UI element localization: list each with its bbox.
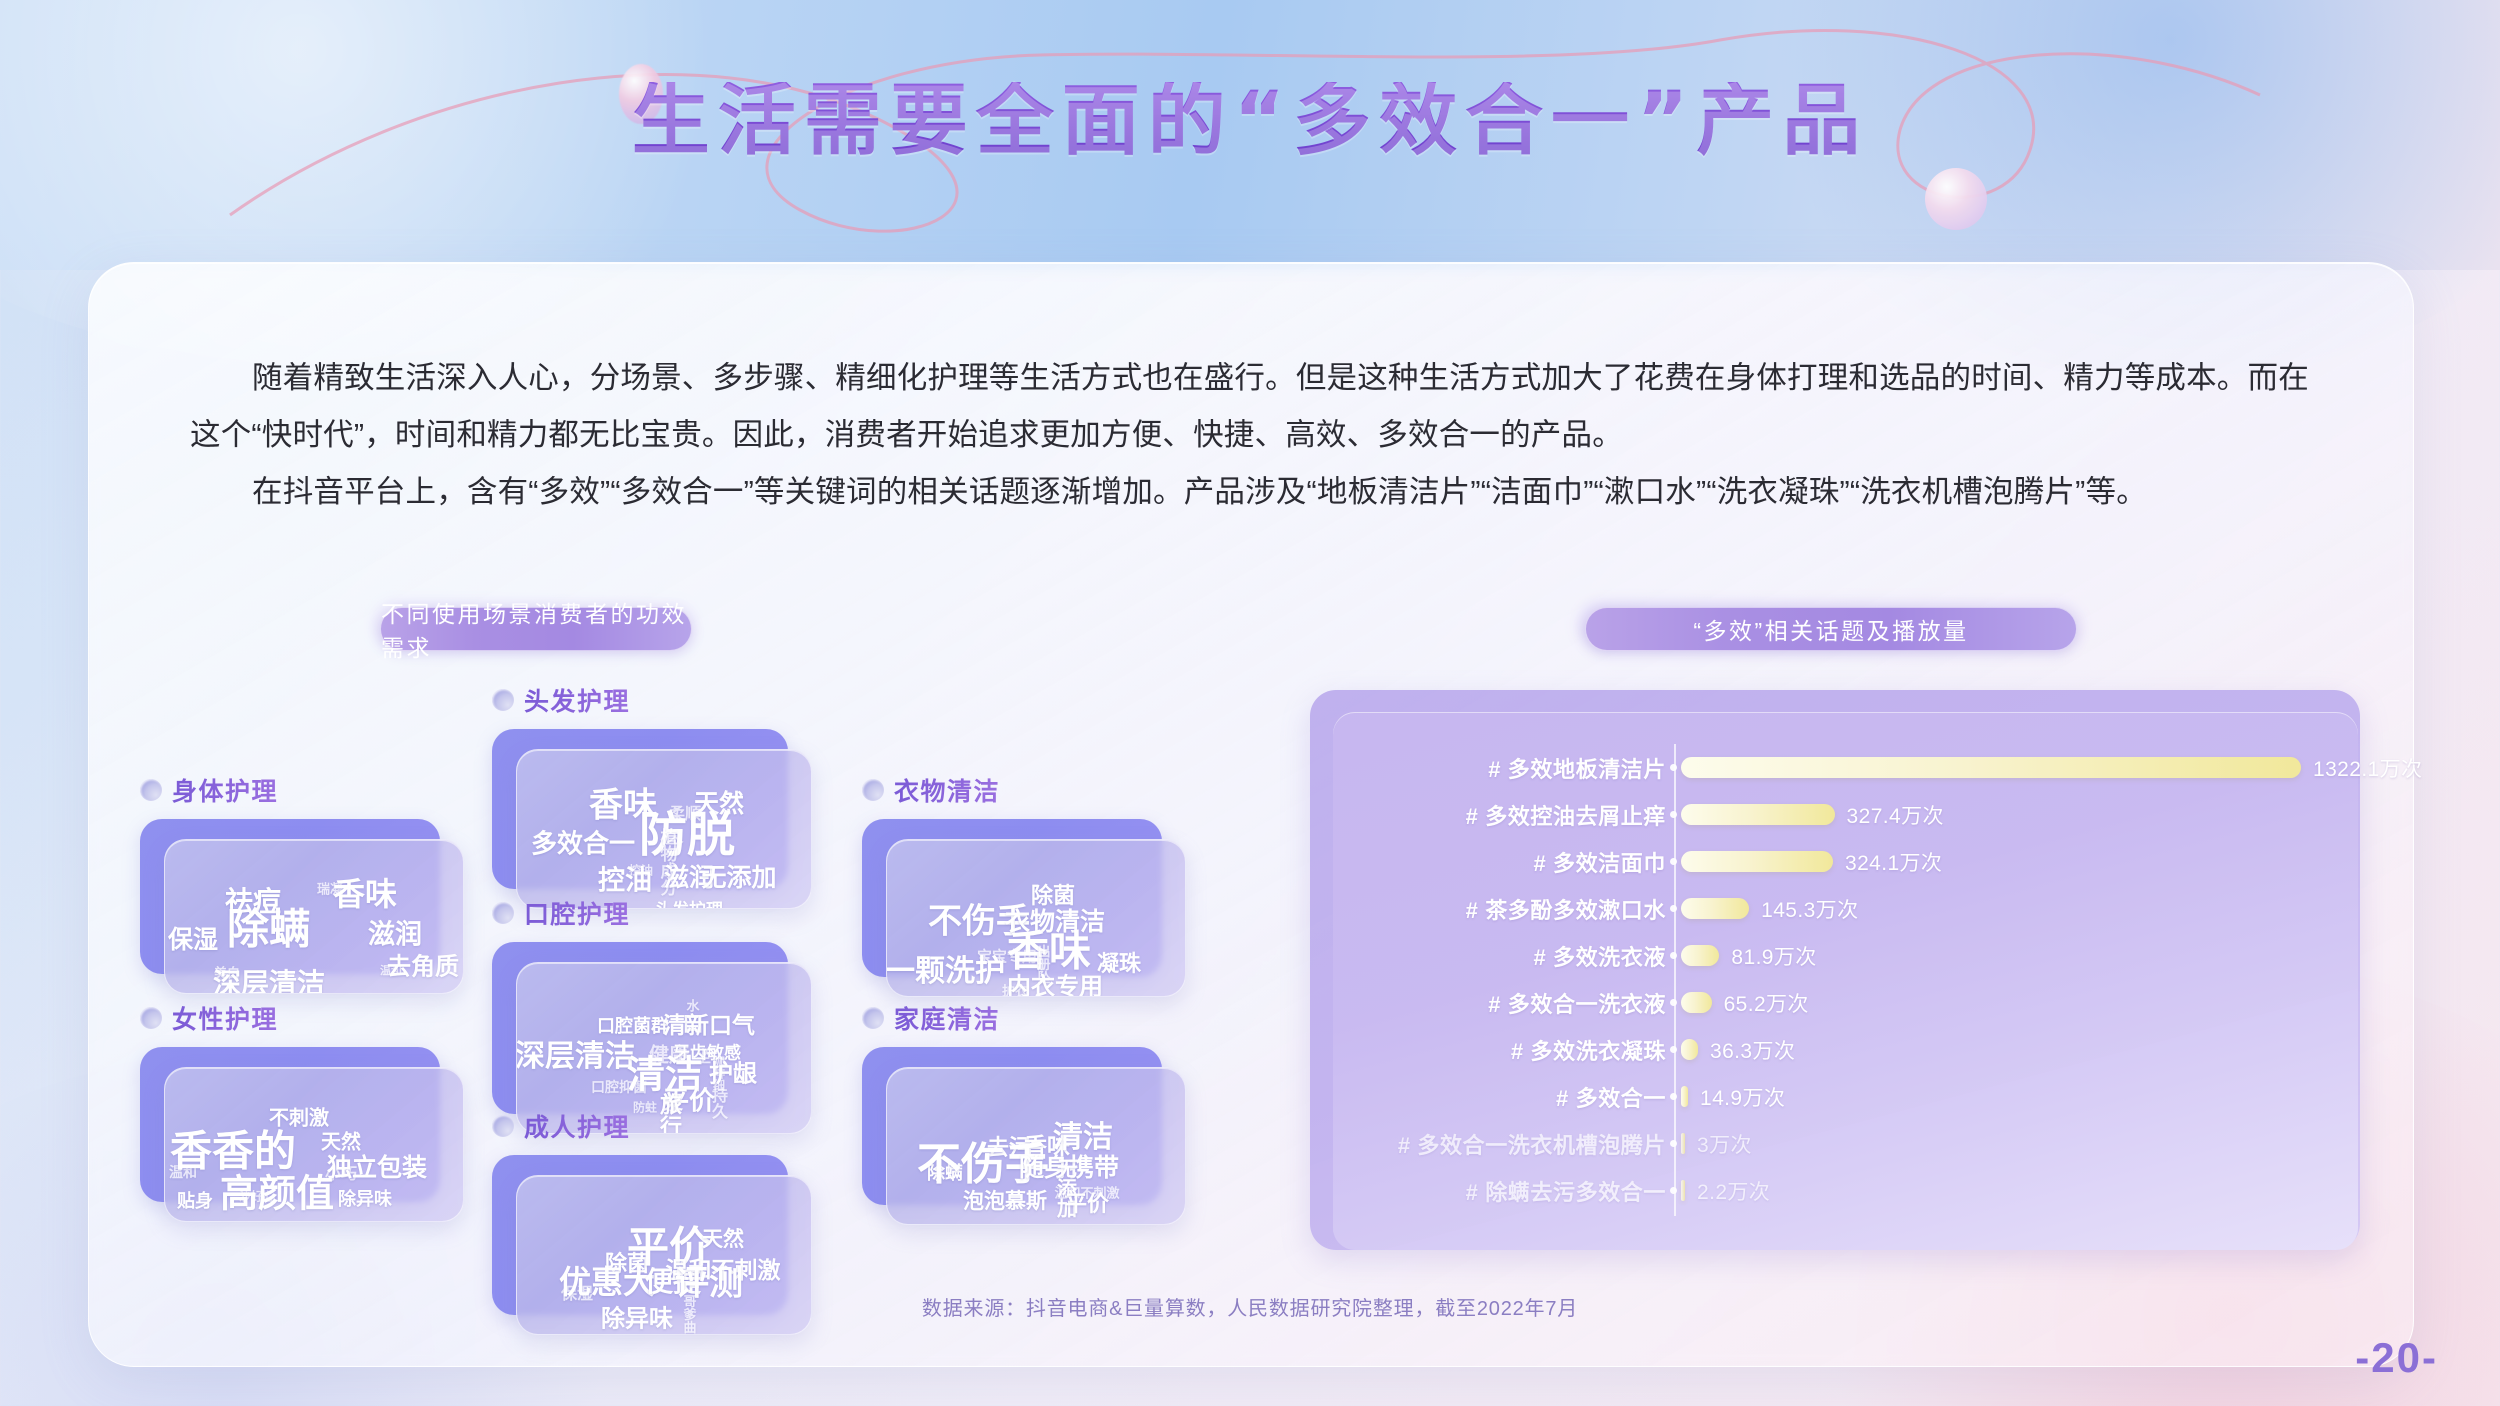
intro-paragraph-1: 随着精致生活深入人心，分场景、多步骤、精细化护理等生活方式也在盛行。但是这种生活… (190, 350, 2330, 464)
word-cloud-group: 身体护理祛痘瑞凝香味保湿除螨滋润美白温和去角质深层清洁 (140, 772, 470, 1000)
word-cloud-term: 内衣专用 (1007, 967, 1103, 998)
chart-bar-row: # 多效控油去屑止痒327.4万次 (1333, 791, 2358, 838)
group-title: 口腔护理 (524, 895, 630, 931)
bullet-circle-icon (140, 779, 162, 801)
chart-axis-tick-dot (1670, 811, 1677, 818)
bullet-circle-icon (862, 1007, 884, 1029)
word-cloud-term: 高颜值 (220, 1163, 334, 1218)
data-source-note: 数据来源：抖音电商&巨量算数，人民数据研究院整理，截至2022年7月 (0, 1292, 2500, 1321)
word-cloud-group: 女性护理不刺激温和香香的天然小巧独立包装贴身沙好心高颜值除异味 (140, 1000, 470, 1228)
group-header: 女性护理 (140, 1000, 470, 1036)
group-header: 成人护理 (492, 1108, 818, 1144)
bullet-circle-icon (492, 902, 514, 924)
chart-axis-tick-dot (1670, 764, 1677, 771)
chart-bar (1681, 1086, 1688, 1107)
word-cloud-term: 深层清洁 (516, 1031, 635, 1075)
chart-axis-tick-dot (1670, 952, 1677, 959)
card-front-layer: 去污香味清洁除螨不伤手随身携带温和不刺激泡泡慕斯无添加平价 (886, 1067, 1186, 1225)
chart-value-label: 145.3万次 (1761, 894, 1858, 924)
chart-bar-row: # 多效合一14.9万次 (1333, 1073, 2358, 1120)
chart-category-label: # 茶多酚多效漱口水 (1236, 893, 1666, 925)
intro-paragraph-2: 在抖音平台上，含有“多效”“多效合一”等关键词的相关话题逐渐增加。产品涉及“地板… (190, 464, 2330, 521)
chart-category-label: # 多效洗衣液 (1236, 940, 1666, 972)
word-cloud-term: 护龈 (709, 1054, 757, 1089)
chart-axis-tick-dot (1670, 1140, 1677, 1147)
chart-bar-row: # 多效洗衣液81.9万次 (1333, 932, 2358, 979)
word-cloud-card: 去污香味清洁除螨不伤手随身携带温和不刺激泡泡慕斯无添加平价 (862, 1047, 1192, 1231)
chart-category-label: # 多效合一洗衣液 (1236, 987, 1666, 1019)
group-title: 身体护理 (172, 772, 278, 808)
chart-value-label: 65.2万次 (1724, 988, 1809, 1018)
word-cloud-term: 独立包装 (327, 1148, 427, 1184)
chart-value-label: 3万次 (1697, 1129, 1752, 1159)
group-header: 身体护理 (140, 772, 470, 808)
word-cloud-card: 不刺激温和香香的天然小巧独立包装贴身沙好心高颜值除异味 (140, 1047, 470, 1228)
card-front-layer: 香味柔顺天然多效合一个防脱控油控油植物成分滋润无添加头发护理 (516, 749, 812, 909)
chart-value-label: 324.1万次 (1845, 847, 1942, 877)
group-header: 头发护理 (492, 682, 818, 718)
word-cloud-term: 天然 (702, 1223, 744, 1253)
word-cloud-term: 控油 (598, 859, 652, 898)
page-number: -20- (2355, 1334, 2438, 1382)
chart-category-label: # 除螨去污多效合一 (1236, 1175, 1666, 1207)
word-cloud-term: 多效合一 (531, 824, 635, 861)
word-cloud-term: 去角质 (387, 947, 459, 982)
word-cloud-term: 香味 (333, 869, 397, 915)
group-header: 家庭清洁 (862, 1000, 1192, 1036)
chart-value-label: 2.2万次 (1697, 1176, 1770, 1206)
chart-bar-row: # 多效地板清洁片1322.1万次 (1333, 744, 2358, 791)
card-front-layer: 不刺激温和香香的天然小巧独立包装贴身沙好心高颜值除异味 (164, 1067, 464, 1222)
chart-bar-row: # 多效合一洗衣液65.2万次 (1333, 979, 2358, 1026)
chart-bar (1681, 1133, 1685, 1154)
word-cloud-term: 深层清洁 (213, 962, 325, 994)
chart-category-label: # 多效洗衣凝珠 (1236, 1034, 1666, 1066)
group-title: 家庭清洁 (894, 1000, 1000, 1036)
chart-bar-row: # 多效洗衣凝珠36.3万次 (1333, 1026, 2358, 1073)
chart-value-label: 14.9万次 (1700, 1082, 1785, 1112)
chart-bar-row: # 多效洁面巾324.1万次 (1333, 838, 2358, 885)
chart-bar-row: # 多效合一洗衣机槽泡腾片3万次 (1333, 1120, 2358, 1167)
chart-value-label: 36.3万次 (1710, 1035, 1795, 1065)
chart-value-label: 1322.1万次 (2313, 753, 2422, 783)
word-cloud-term: 除螨 (227, 896, 311, 957)
chart-bar-rows: # 多效地板清洁片1322.1万次# 多效控油去屑止痒327.4万次# 多效洁面… (1333, 744, 2358, 1214)
group-title: 头发护理 (524, 682, 630, 718)
chart-bar (1681, 1039, 1698, 1060)
group-header: 口腔护理 (492, 895, 818, 931)
chart-category-label: # 多效洁面巾 (1236, 846, 1666, 878)
word-cloud-term: 凝珠 (1097, 946, 1141, 978)
chart-category-label: # 多效地板清洁片 (1236, 752, 1666, 784)
chart-bar-row: # 除螨去污多效合一2.2万次 (1333, 1167, 2358, 1214)
group-header: 衣物清洁 (862, 772, 1192, 808)
word-cloud-card: 祛痘瑞凝香味保湿除螨滋润美白温和去角质深层清洁 (140, 819, 470, 1000)
chart-category-label: # 多效合一 (1236, 1081, 1666, 1113)
chart-axis-tick-dot (1670, 1187, 1677, 1194)
page-title: 生活需要全面的“多效合一”产品 (0, 82, 2500, 160)
word-cloud-term: 除异味 (338, 1185, 392, 1211)
word-cloud-term: 一颗洗护 (886, 946, 1005, 990)
group-title: 成人护理 (524, 1108, 630, 1144)
chart-axis-tick-dot (1670, 1093, 1677, 1100)
word-cloud-group: 头发护理香味柔顺天然多效合一个防脱控油控油植物成分滋润无添加头发护理 (492, 682, 818, 915)
bullet-circle-icon (492, 689, 514, 711)
chart-category-label: # 多效合一洗衣机槽泡腾片 (1236, 1128, 1666, 1160)
chart-axis-tick-dot (1670, 905, 1677, 912)
word-cloud-term: 清新口气 (663, 1006, 755, 1040)
chart-bar (1681, 1180, 1685, 1201)
group-title: 女性护理 (172, 1000, 278, 1036)
word-cloud-term: 泡泡慕斯 (963, 1185, 1047, 1215)
chart-bar-row: # 茶多酚多效漱口水145.3万次 (1333, 885, 2358, 932)
word-cloud-card: 香味柔顺天然多效合一个防脱控油控油植物成分滋润无添加头发护理 (492, 729, 818, 915)
bullet-circle-icon (140, 1007, 162, 1029)
card-front-layer: 除菌不伤手衣物清洁宝宝专用香味一颗洗护凝珠出册坠护衣内衣专用 (886, 839, 1186, 997)
word-cloud-term: 防脱 (639, 795, 735, 865)
chart-axis-tick-dot (1670, 999, 1677, 1006)
chart-category-label: # 多效控油去屑止痒 (1236, 799, 1666, 831)
chart-value-label: 327.4万次 (1847, 800, 1944, 830)
section-header-left: 不同使用场景消费者的功效需求 (380, 607, 692, 651)
word-cloud-group: 衣物清洁除菌不伤手衣物清洁宝宝专用香味一颗洗护凝珠出册坠护衣内衣专用 (862, 772, 1192, 1003)
word-cloud-term: 平价 (1065, 1186, 1109, 1218)
chart-bar (1681, 804, 1835, 825)
chart-bar (1681, 851, 1833, 872)
decorative-bubble-right (1925, 168, 1987, 230)
word-cloud-term: 保湿 (168, 920, 218, 956)
section-header-right: “多效”相关话题及播放量 (1585, 607, 2077, 651)
group-title: 衣物清洁 (894, 772, 1000, 808)
chart-value-label: 81.9万次 (1731, 941, 1816, 971)
chart-bar (1681, 898, 1749, 919)
word-cloud-group: 口腔护理水口腔菌群口清新口气深层清洁健康坐牙齿敏感口腔抑菌清洁咖啡细护龈防蛀浆平… (492, 895, 818, 1140)
word-cloud-group: 家庭清洁去污香味清洁除螨不伤手随身携带温和不刺激泡泡慕斯无添加平价 (862, 1000, 1192, 1231)
word-cloud-term: 无添加 (701, 858, 776, 894)
bullet-circle-icon (492, 1115, 514, 1137)
chart-axis-tick-dot (1670, 858, 1677, 865)
bullet-circle-icon (862, 779, 884, 801)
chart-bar (1681, 992, 1712, 1013)
chart-bar (1681, 757, 2301, 778)
card-front-layer: 祛痘瑞凝香味保湿除螨滋润美白温和去角质深层清洁 (164, 839, 464, 994)
chart-bar (1681, 945, 1719, 966)
word-cloud-term: 贴身 (177, 1187, 213, 1213)
chart-axis-tick-dot (1670, 1046, 1677, 1053)
word-cloud-card: 除菌不伤手衣物清洁宝宝专用香味一颗洗护凝珠出册坠护衣内衣专用 (862, 819, 1192, 1003)
